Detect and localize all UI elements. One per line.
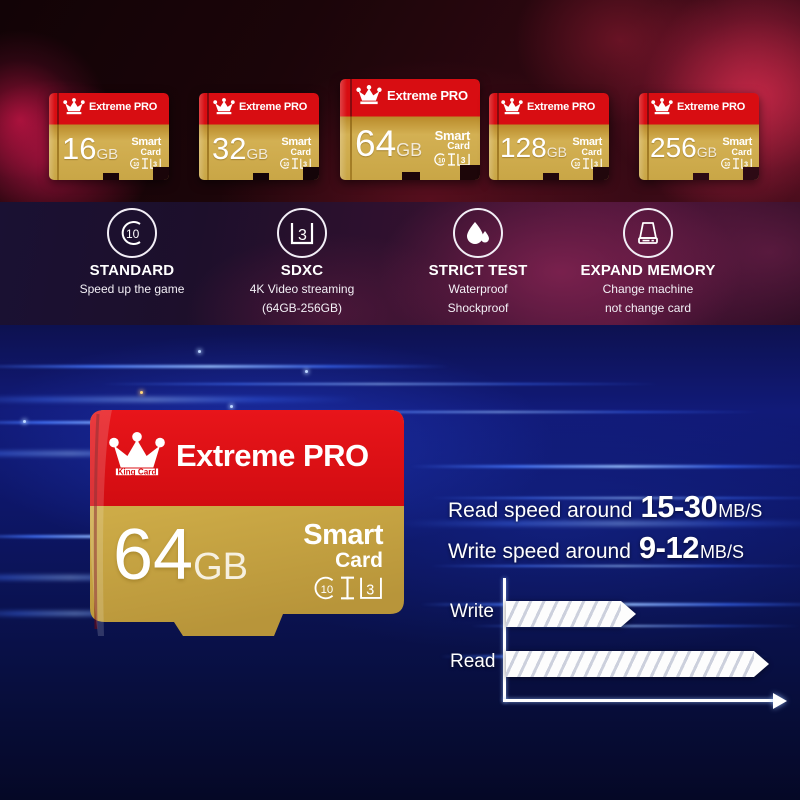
- feature-title: STANDARD: [42, 262, 222, 279]
- card-reader-glyph: [634, 219, 662, 247]
- write-speed-unit: MB/S: [700, 542, 744, 563]
- feature-expand-memory: EXPAND MEMORY Change machine not change …: [558, 208, 738, 316]
- spark-dot: [23, 420, 26, 423]
- feature-title: STRICT TEST: [388, 262, 568, 279]
- chart-bar-read: [506, 651, 754, 677]
- svg-text:10: 10: [126, 227, 140, 241]
- chart-bar-label-read: Read: [450, 651, 495, 673]
- chart-axis-arrow-icon: [773, 693, 787, 709]
- light-streak: [410, 465, 800, 468]
- feature-title: SDXC: [212, 262, 392, 279]
- product-infographic: Extreme PRO 16 GB Smart Card 10: [0, 0, 800, 800]
- crown-icon: King Card: [108, 432, 166, 480]
- u3-glyph: 3: [288, 219, 316, 247]
- hero-card-header: King Card Extreme PRO: [108, 432, 369, 480]
- light-streak: [0, 397, 360, 402]
- chart-bar-write: [506, 601, 621, 627]
- feature-sub-2: Shockproof: [388, 301, 568, 317]
- smart-line-1: Smart: [303, 522, 383, 550]
- spark-dot: [140, 391, 143, 394]
- read-speed-value: 15-30: [640, 489, 717, 525]
- sdcard-64gb[interactable]: Extreme PRO 64 GB Smart Card 10: [340, 79, 480, 180]
- bar-chevron-pattern: [506, 651, 754, 677]
- hero-sdcard-64gb[interactable]: King Card Extreme PRO 64 GB Smart Card 1…: [78, 404, 408, 644]
- class10-glyph: 10: [117, 218, 147, 248]
- class10-icon: 10: [312, 576, 336, 600]
- svg-text:10: 10: [321, 584, 334, 596]
- feature-sub-2: not change card: [558, 301, 738, 317]
- bar-chevron-pattern: [506, 601, 621, 627]
- feature-title: EXPAND MEMORY: [558, 262, 738, 279]
- feature-sub-1: Waterproof: [388, 282, 568, 298]
- chart-bar-label-write: Write: [450, 601, 494, 623]
- water-drop-icon: [453, 208, 503, 258]
- card-notch-mask: [639, 93, 759, 180]
- write-speed-label: Write speed around: [448, 540, 631, 564]
- card-notch-mask: [199, 93, 319, 180]
- read-speed-line: Read speed around 15-30 MB/S: [448, 489, 762, 525]
- write-speed-value: 9-12: [639, 530, 699, 566]
- smart-line-2: Card: [303, 550, 383, 572]
- card-notch-mask: [489, 93, 609, 180]
- sdcard-128gb[interactable]: Extreme PRO 128 GB Smart Card 10: [489, 93, 609, 180]
- hero-model-label: Extreme PRO: [176, 438, 369, 474]
- chart-x-axis: [503, 699, 775, 702]
- card-reader-icon: [623, 208, 673, 258]
- light-streak: [100, 383, 660, 385]
- sdcard-32gb[interactable]: Extreme PRO 32 GB Smart Card 10: [199, 93, 319, 180]
- u3-icon: 3: [277, 208, 327, 258]
- u3-icon: 3: [359, 576, 383, 600]
- hero-smart-logo: Smart Card 10 3: [303, 522, 383, 600]
- svg-text:3: 3: [366, 582, 374, 598]
- bar-arrow-tip: [621, 601, 636, 627]
- spark-dot: [305, 370, 308, 373]
- feature-sub-1: Change machine: [558, 282, 738, 298]
- hero-capacity-number: 64: [113, 519, 193, 591]
- chart-y-axis: [503, 578, 506, 702]
- card-notch-mask: [340, 79, 480, 180]
- water-drop-glyph: [464, 219, 492, 247]
- feature-sub-1: Speed up the game: [42, 282, 222, 298]
- features-section: 10 STANDARD Speed up the game 3 SDXC 4K …: [0, 202, 800, 325]
- bar-arrow-tip: [754, 651, 769, 677]
- hero-class-marks: 10 3: [303, 576, 383, 600]
- feature-sub-2: (64GB-256GB): [212, 301, 392, 317]
- sdcard-16gb[interactable]: Extreme PRO 16 GB Smart Card 10: [49, 93, 169, 180]
- svg-text:3: 3: [298, 227, 307, 244]
- feature-strict-test: STRICT TEST Waterproof Shockproof: [388, 208, 568, 316]
- read-speed-unit: MB/S: [718, 501, 762, 522]
- read-speed-label: Read speed around: [448, 499, 632, 523]
- feature-sdxc: 3 SDXC 4K Video streaming (64GB-256GB): [212, 208, 392, 316]
- uhs-i-icon: [341, 576, 354, 600]
- light-streak: [0, 365, 450, 368]
- sdcard-256gb[interactable]: Extreme PRO 256 GB Smart Card 10: [639, 93, 759, 180]
- feature-standard: 10 STANDARD Speed up the game: [42, 208, 222, 301]
- spark-dot: [198, 350, 201, 353]
- hero-brand-text: King Card: [118, 468, 157, 477]
- top-hero-section: Extreme PRO 16 GB Smart Card 10: [0, 0, 800, 202]
- hero-capacity-unit: GB: [193, 546, 248, 589]
- class10-icon: 10: [107, 208, 157, 258]
- hero-capacity: 64 GB: [113, 519, 248, 591]
- feature-sub-1: 4K Video streaming: [212, 282, 392, 298]
- write-speed-line: Write speed around 9-12 MB/S: [448, 530, 744, 566]
- card-notch-mask: [49, 93, 169, 180]
